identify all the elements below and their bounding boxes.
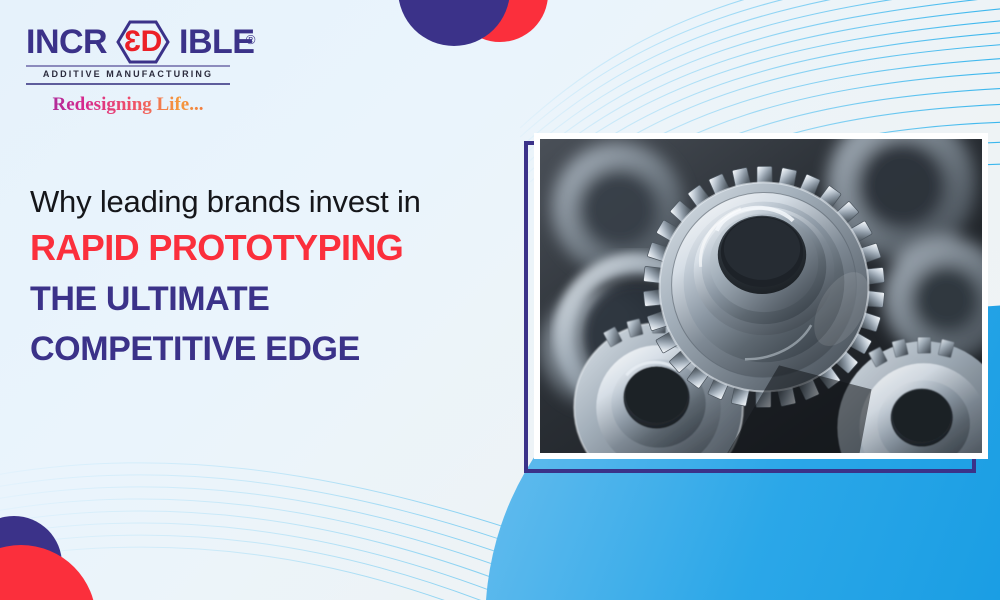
logo-wordmark: INCR 3D IBLE ® bbox=[26, 20, 242, 64]
headline-line-1: Why leading brands invest in bbox=[30, 182, 500, 222]
logo-subtitle-band: ADDITIVE MANUFACTURING bbox=[26, 65, 230, 85]
logo-3d-text: 3D bbox=[116, 20, 170, 64]
logo-text-ible: IBLE bbox=[179, 20, 254, 64]
registered-trademark-icon: ® bbox=[246, 18, 255, 62]
headline-block: Why leading brands invest in RAPID PROTO… bbox=[30, 182, 500, 374]
logo-text-incr: INCR bbox=[26, 20, 107, 64]
gears-illustration bbox=[540, 139, 982, 453]
decor-circle-red-bottom bbox=[0, 545, 96, 600]
image-white-card bbox=[534, 133, 988, 459]
hero-image-block bbox=[524, 133, 988, 473]
logo-rule-top bbox=[26, 65, 230, 67]
logo-tagline: Redesigning Life... bbox=[26, 94, 230, 116]
company-logo[interactable]: INCR 3D IBLE ® ADDITIVE MANUFACTURING Re… bbox=[26, 20, 242, 116]
decor-circle-navy-bottom bbox=[0, 516, 62, 600]
headline-line-3: THE ULTIMATE bbox=[30, 274, 500, 324]
logo-subtitle: ADDITIVE MANUFACTURING bbox=[26, 69, 230, 79]
promo-banner: INCR 3D IBLE ® ADDITIVE MANUFACTURING Re… bbox=[0, 0, 1000, 600]
decor-circle-navy-top bbox=[398, 0, 510, 46]
gears-photo bbox=[540, 139, 982, 453]
logo-rule-bottom bbox=[26, 83, 230, 85]
decor-circle-red-top bbox=[452, 0, 548, 42]
headline-line-2: RAPID PROTOTYPING bbox=[30, 222, 500, 274]
logo-3d-badge: 3D bbox=[116, 20, 170, 64]
headline-line-4: COMPETITIVE EDGE bbox=[30, 324, 500, 374]
